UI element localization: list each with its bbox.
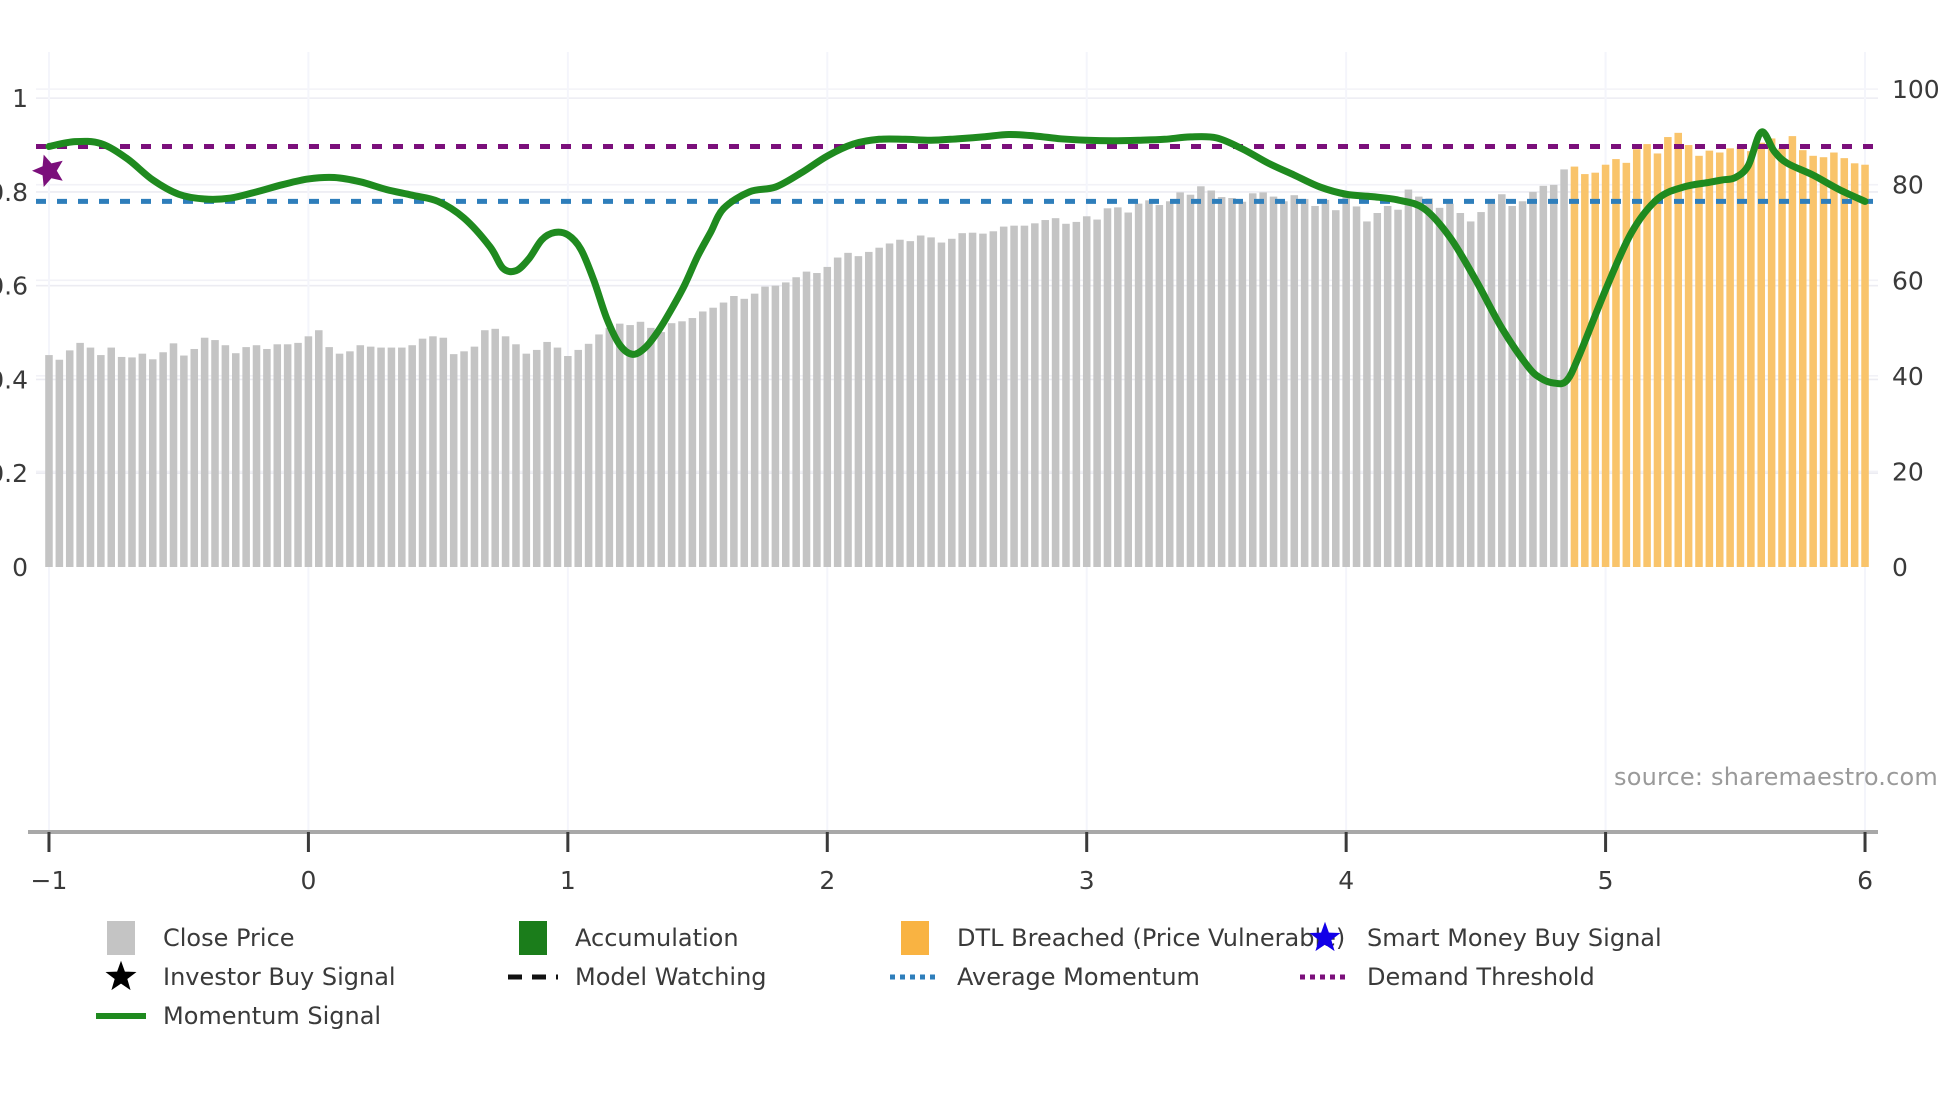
price-bar [512,344,520,567]
price-bar [76,343,84,567]
legend-item-average-momentum[interactable]: Average Momentum [889,963,1299,991]
price-bar [1259,192,1267,567]
price-bar [606,328,614,567]
price-bar [66,350,74,567]
price-bar [388,348,396,567]
price-bar [1820,157,1828,567]
legend-row-1: Close Price Accumulation DTL Breached (P… [95,918,1895,957]
price-bar [1633,149,1641,567]
price-bar [429,336,437,567]
price-bar [637,322,645,567]
price-bar [1218,197,1226,567]
price-bar [1799,150,1807,567]
price-bar [626,325,634,567]
price-bar [170,343,178,567]
average-momentum-dotted-icon [889,967,941,987]
price-bar [1228,198,1236,567]
legend-label: Close Price [163,924,295,952]
legend-label: Investor Buy Signal [163,963,396,991]
price-bar [45,355,53,567]
price-bar [1685,145,1693,567]
y-axis-left-tick-label: 0.6 [0,272,28,301]
price-bar [585,344,593,567]
price-bar [274,344,282,567]
price-bar [1197,186,1205,567]
price-bar [419,339,427,567]
legend-label: Momentum Signal [163,1002,381,1030]
price-bar [1519,201,1527,567]
price-bar [1809,156,1817,567]
price-bar [533,350,541,567]
price-bar [1270,197,1278,567]
price-bar [844,253,852,567]
y-axis-right-tick-label: 60 [1892,266,1924,295]
price-bar [958,233,966,567]
price-bar [97,355,105,567]
price-bar [1654,153,1662,567]
price-bar [1560,169,1568,567]
price-bar [1187,195,1195,567]
price-bar [865,252,873,567]
price-bar [647,328,655,567]
price-bar [1405,190,1413,567]
x-axis-tick-label: 5 [1598,866,1614,895]
price-bar [253,345,261,567]
price-bar [886,243,894,567]
price-bar [1726,148,1734,567]
source-note: source: sharemaestro.com [1614,763,1938,791]
x-axis-tick-label: 6 [1857,866,1873,895]
price-bar [917,236,925,567]
price-bar [346,351,354,567]
price-bar [1353,206,1361,567]
price-bar [1498,194,1506,567]
price-bar [1674,133,1682,567]
price-bar [471,347,479,567]
price-bar [1207,190,1215,567]
price-bar [927,237,935,567]
price-bar [699,311,707,567]
price-bar [969,233,977,567]
model-watching-dash-icon [507,967,559,987]
price-bar [1747,151,1755,567]
price-bar [1073,222,1081,567]
price-bar [1176,192,1184,567]
price-bar [751,294,759,567]
price-bar [180,356,188,567]
legend-row-2: Investor Buy Signal Model Watching Avera… [95,957,1895,996]
y-axis-right-tick-label: 100 [1892,75,1940,104]
x-axis-tick-label: 4 [1338,866,1354,895]
price-bar [1239,202,1247,567]
y-axis-left-tick-label: 0.8 [0,178,28,207]
x-axis-tick-label: 3 [1079,866,1095,895]
y-axis-left-tick-label: 0.2 [0,459,28,488]
price-bar [149,359,157,567]
price-bar [450,354,458,567]
price-bar [1508,206,1516,567]
price-bar [1737,146,1745,567]
price-bar [803,272,811,567]
price-bar [201,338,209,567]
price-bar [1384,206,1392,567]
price-bar [1062,224,1070,567]
price-bar [336,354,344,567]
price-bar [294,343,302,567]
price-bar [1591,173,1599,567]
investor-star-icon [95,960,147,994]
legend-label: Demand Threshold [1367,963,1595,991]
price-bar [1041,220,1049,567]
price-bar [1706,151,1714,567]
legend-label: DTL Breached (Price Vulnerable) [957,924,1345,952]
price-bar [782,282,790,567]
price-bar [709,308,717,567]
price-bar [1394,210,1402,567]
price-bar [1612,159,1620,567]
price-bar [56,360,64,567]
price-bar [1436,208,1444,567]
price-bar [543,342,551,567]
legend-label: Accumulation [575,924,739,952]
smart-money-buy-marker[interactable] [32,155,63,187]
price-bar [1425,198,1433,567]
x-axis-tick-label: −1 [31,866,68,895]
price-bar [689,318,697,567]
price-bar [159,352,167,567]
price-bar [1861,165,1869,567]
legend-item-demand-threshold[interactable]: Demand Threshold [1299,963,1719,991]
legend-row-3: Momentum Signal [95,996,1895,1035]
price-bar [1290,195,1298,567]
price-bar [325,347,333,567]
dtl-breached-swatch-icon [889,921,941,955]
price-bar [460,351,468,567]
price-bar [1664,137,1672,567]
y-axis-left-tick-label: 0.4 [0,365,28,394]
price-bar [948,239,956,567]
price-bar [305,336,313,567]
price-bar [938,243,946,567]
price-bar [1446,204,1454,567]
price-bar [1010,226,1018,567]
price-bar [1145,200,1153,567]
legend-item-close-price[interactable]: Close Price [95,921,507,955]
y-axis-left-tick-label: 0 [12,553,28,582]
price-bar [657,332,665,567]
x-axis-tick-label: 2 [819,866,835,895]
price-bar [1332,210,1340,567]
price-bar [720,303,728,567]
price-bar [1021,226,1029,567]
price-bar [1716,153,1724,567]
price-bar [730,296,738,567]
price-bar [1135,204,1143,567]
price-bar [855,256,863,567]
price-bar [554,348,562,567]
y-axis-right-tick-label: 0 [1892,553,1908,582]
price-bar [740,299,748,567]
price-bar [907,241,915,567]
price-bar [772,286,780,567]
legend-label: Average Momentum [957,963,1200,991]
price-bar [1830,153,1838,567]
price-bar [1114,207,1122,567]
price-bar [1104,208,1112,567]
legend-item-dtl-breached[interactable]: DTL Breached (Price Vulnerable) [889,921,1299,955]
price-bar [284,344,292,567]
price-bar [834,258,842,567]
price-bar [1000,227,1008,567]
price-bar [1768,138,1776,567]
price-bar [1457,213,1465,567]
legend-item-momentum-signal[interactable]: Momentum Signal [95,1002,507,1030]
price-bar [398,348,406,567]
price-bar [1031,223,1039,567]
price-bar [139,354,147,567]
price-bar [211,340,219,567]
price-bar [824,267,832,567]
price-bar [107,348,115,567]
price-bar [616,324,624,567]
price-bar [564,356,572,567]
price-bar [1311,206,1319,567]
legend-item-model-watching[interactable]: Model Watching [507,963,889,991]
price-bar [574,350,582,567]
price-bar [232,353,240,567]
price-bar [315,330,323,567]
legend-item-investor-buy-signal[interactable]: Investor Buy Signal [95,960,507,994]
price-bar [1093,220,1101,567]
demand-threshold-dotted-icon [1299,967,1351,987]
accumulation-swatch-icon [507,921,559,955]
price-bar [1477,212,1485,567]
legend-item-accumulation[interactable]: Accumulation [507,921,889,955]
price-bar [1602,165,1610,567]
price-bar [792,277,800,567]
price-bar [502,336,510,567]
price-bar [263,349,271,567]
price-bar [1342,197,1350,567]
legend-item-smart-money-buy-signal[interactable]: Smart Money Buy Signal [1299,921,1719,955]
price-bar [1052,218,1060,567]
smart-money-star-icon [1299,921,1351,955]
price-bar [668,323,676,567]
price-bar [1789,136,1797,567]
price-bar [1415,197,1423,567]
price-bar [1124,213,1132,567]
y-axis-right-tick-label: 80 [1892,171,1924,200]
price-bar [678,321,686,567]
price-bar [481,330,489,567]
price-bar [523,354,531,567]
price-bar [1695,156,1703,567]
chart-legend: Close Price Accumulation DTL Breached (P… [95,918,1895,1035]
price-bar [896,240,904,567]
price-bar [875,248,883,567]
price-bar [1581,174,1589,567]
price-bar [990,231,998,567]
legend-label: Model Watching [575,963,767,991]
momentum-signal-line-icon [95,1006,147,1026]
price-bar [1841,158,1849,567]
price-bar [491,329,499,567]
price-bar [1249,193,1257,567]
price-bar [1301,199,1309,567]
price-bar [190,349,198,567]
price-bar [595,334,603,567]
legend-label: Smart Money Buy Signal [1367,924,1662,952]
price-bar [1156,205,1164,567]
price-bar [118,357,126,567]
y-axis-left-tick-label: 1 [12,84,28,113]
price-bar [1166,201,1174,567]
price-bar [979,234,987,567]
price-bar [1778,148,1786,567]
y-axis-right-tick-label: 20 [1892,457,1924,486]
x-axis-tick-label: 0 [300,866,316,895]
price-bar [1280,201,1288,567]
price-bar [222,345,230,567]
price-bar [1851,163,1859,567]
price-bar [87,348,95,567]
price-bar [1757,143,1765,567]
price-bar [1529,192,1537,567]
price-bar [377,348,385,567]
price-bar [813,273,821,567]
x-axis-tick-label: 1 [560,866,576,895]
price-bar [1083,216,1091,567]
chart-root: −1012345600.20.40.60.81020406080100 sour… [0,0,1960,1102]
price-bar [1550,185,1558,567]
price-bar [1488,204,1496,567]
price-bar [367,347,375,567]
price-bar [357,345,365,567]
price-bar [242,347,250,567]
price-bar [440,338,448,567]
close-price-swatch-icon [95,921,147,955]
y-axis-right-tick-label: 40 [1892,362,1924,391]
price-bar [1322,200,1330,567]
price-bar [761,287,769,567]
price-bar [1374,213,1382,567]
price-bar [408,345,416,567]
price-bar [128,357,136,567]
price-bar [1623,163,1631,567]
price-bar [1363,221,1371,567]
